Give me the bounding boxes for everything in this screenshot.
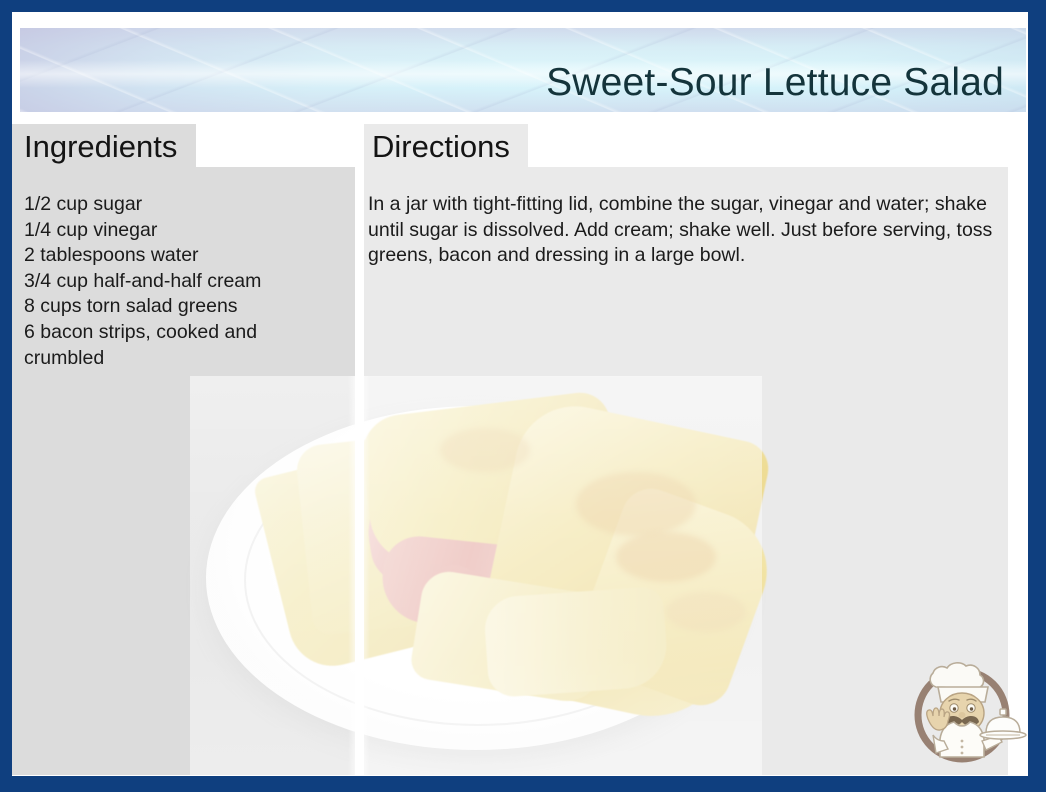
directions-tab-gap xyxy=(528,124,1008,167)
panel-divider-gap xyxy=(355,124,364,775)
slide-border-left xyxy=(0,0,12,792)
slide-border-right xyxy=(1028,0,1046,792)
slide-border-top xyxy=(0,0,1046,12)
list-item: 8 cups torn salad greens xyxy=(24,294,342,320)
list-item: 1/4 cup vinegar xyxy=(24,218,342,244)
list-item: 6 bacon strips, cooked and crumbled xyxy=(24,320,342,371)
list-item: 2 tablespoons water xyxy=(24,243,342,269)
page-title: Sweet-Sour Lettuce Salad xyxy=(546,63,1004,104)
recipe-slide: Sweet-Sour Lettuce Salad Ingredients Dir… xyxy=(0,0,1046,792)
ingredients-list: 1/2 cup sugar 1/4 cup vinegar 2 tablespo… xyxy=(24,192,342,371)
banner-panel-gap xyxy=(12,112,1028,124)
list-item: 3/4 cup half-and-half cream xyxy=(24,269,342,295)
ingredients-tab-gap xyxy=(196,124,355,167)
directions-header-tab: Directions xyxy=(364,124,528,168)
directions-body: In a jar with tight-fitting lid, combine… xyxy=(368,192,1000,269)
list-item: 1/2 cup sugar xyxy=(24,192,342,218)
chef-logo xyxy=(900,645,1030,775)
ingredients-header-tab: Ingredients xyxy=(12,124,196,168)
slide-border-bottom xyxy=(0,776,1046,792)
ingredients-heading: Ingredients xyxy=(24,131,177,162)
title-banner: Sweet-Sour Lettuce Salad xyxy=(20,28,1026,112)
directions-heading: Directions xyxy=(372,131,510,162)
